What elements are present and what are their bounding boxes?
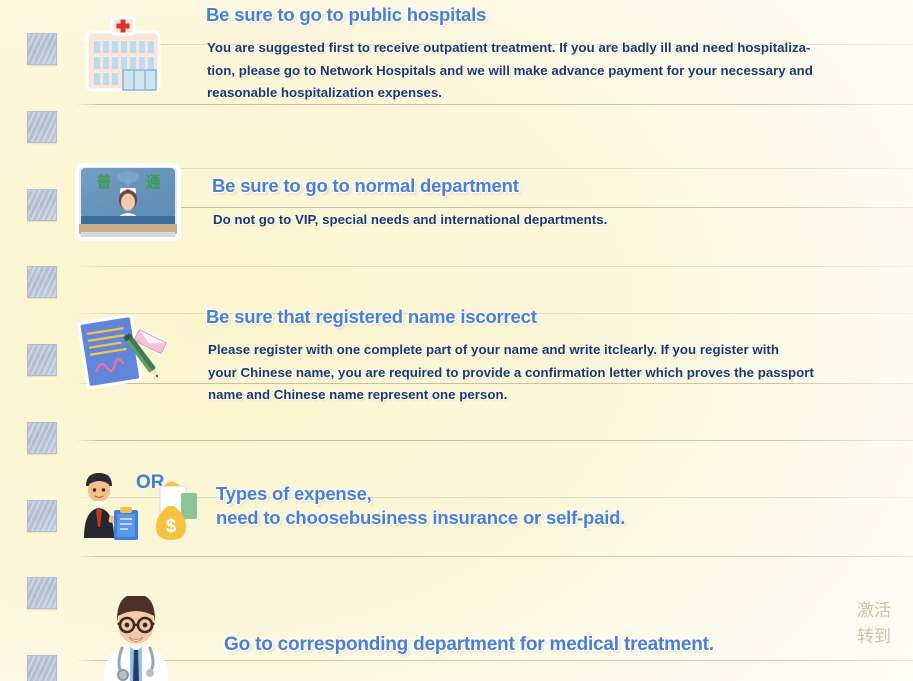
icon-label-pu: 普 — [96, 173, 111, 191]
section-body: Do not go to VIP, special needs and inte… — [213, 209, 853, 232]
list-item[interactable] — [27, 344, 57, 376]
list-item[interactable] — [27, 33, 57, 65]
section-heading: Be sure to go to public hospitals — [206, 4, 486, 26]
businessman-or-moneybag-icon: OR $ — [76, 466, 202, 542]
hospital-building-icon — [82, 12, 164, 94]
section-heading: Be sure that registered name iscorrect — [206, 306, 537, 328]
separator-line — [75, 207, 913, 208]
section-body: You are suggested first to receive outpa… — [207, 37, 862, 105]
separator-line — [75, 266, 913, 267]
body-line: your Chinese name, you are required to p… — [208, 362, 868, 385]
list-item[interactable] — [27, 577, 57, 609]
body-line: name and Chinese name represent one pers… — [208, 384, 868, 407]
slide-canvas: Be sure to go to public hospitals You ar… — [0, 0, 913, 681]
list-item[interactable] — [27, 655, 57, 681]
windows-activation-watermark: 激活 转到 — [857, 598, 913, 650]
body-line: reasonable hospitalization expenses. — [207, 82, 862, 105]
list-item[interactable] — [27, 189, 57, 221]
separator-line — [75, 556, 913, 557]
separator-line — [75, 440, 913, 441]
watermark-line1: 激活 — [857, 598, 913, 624]
list-item[interactable] — [27, 266, 57, 298]
section-body: Please register with one complete part o… — [208, 339, 868, 407]
svg-text:$: $ — [166, 516, 177, 537]
section-heading-line2: need to choosebusiness insurance or self… — [216, 507, 625, 529]
watermark-line2: 转到 — [857, 624, 913, 650]
body-line: You are suggested first to receive outpa… — [207, 37, 862, 60]
icon-label-tong: 通 — [145, 173, 160, 191]
list-item[interactable] — [27, 422, 57, 454]
section-heading: Go to corresponding department for medic… — [224, 634, 714, 656]
doctor-icon — [96, 596, 176, 681]
body-line: Do not go to VIP, special needs and inte… — [213, 209, 853, 232]
section-heading-line1: Types of expense, — [216, 483, 372, 505]
section-heading: Be sure to go to normal department — [212, 175, 519, 197]
body-line: tion, please go to Network Hospitals and… — [207, 60, 862, 83]
reception-nurse-icon: 普 通 — [73, 163, 183, 243]
list-item[interactable] — [27, 111, 57, 143]
list-item[interactable] — [27, 500, 57, 532]
separator-line — [75, 168, 913, 169]
separator-line — [75, 660, 913, 661]
registration-form-pen-icon — [72, 312, 177, 390]
body-line: Please register with one complete part o… — [208, 339, 868, 362]
